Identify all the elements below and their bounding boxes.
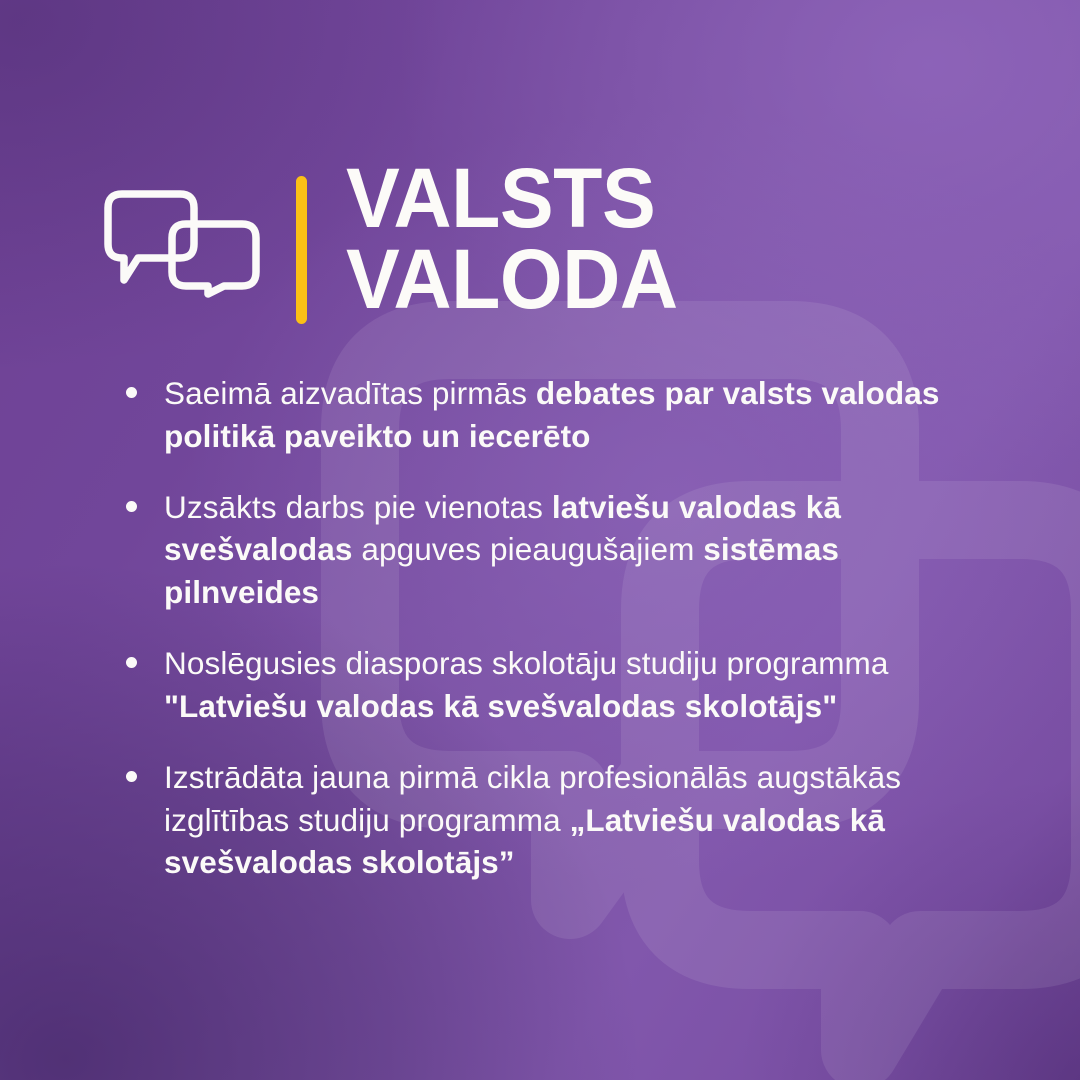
bullet-dot-icon — [126, 657, 137, 668]
list-item: Izstrādāta jauna pirmā cikla profesionāl… — [126, 756, 978, 884]
title-line-1: VALSTS — [346, 158, 678, 239]
bullet-text: Saeimā aizvadītas pirmās debates par val… — [164, 372, 978, 458]
bullet-dot-icon — [126, 501, 137, 512]
speech-bubbles-icon — [104, 186, 262, 298]
list-item: Noslēgusies diasporas skolotāju studiju … — [126, 642, 978, 728]
bullet-text: Noslēgusies diasporas skolotāju studiju … — [164, 642, 978, 728]
list-item: Uzsākts darbs pie vienotas latviešu valo… — [126, 486, 978, 614]
poster-header: VALSTS VALODA — [104, 168, 691, 324]
bullet-dot-icon — [126, 771, 137, 782]
page-title: VALSTS VALODA — [346, 158, 691, 319]
bullet-text: Uzsākts darbs pie vienotas latviešu valo… — [164, 486, 978, 614]
list-item: Saeimā aizvadītas pirmās debates par val… — [126, 372, 978, 458]
bullet-dot-icon — [126, 387, 137, 398]
poster-canvas: VALSTS VALODA Saeimā aizvadītas pirmās d… — [0, 0, 1080, 1080]
title-line-2: VALODA — [346, 239, 678, 320]
bullet-list: Saeimā aizvadītas pirmās debates par val… — [126, 372, 978, 884]
yellow-accent-bar — [296, 176, 307, 324]
bullet-text: Izstrādāta jauna pirmā cikla profesionāl… — [164, 756, 978, 884]
